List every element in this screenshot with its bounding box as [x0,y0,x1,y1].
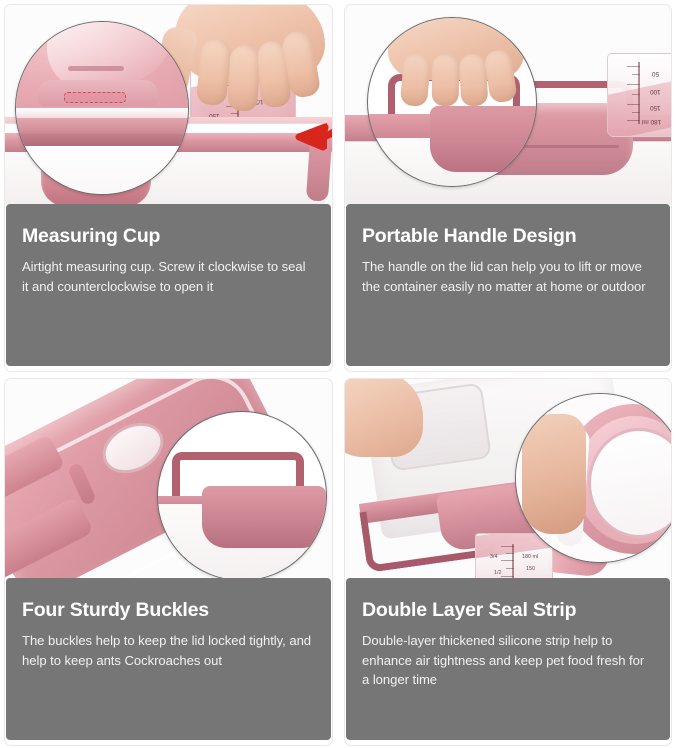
finger [196,38,233,107]
photo-measuring-cup: 50 100 150 180 ml 1/4 1/2 3/4 cup [5,5,332,204]
caption-body: Double-layer thickened silicone strip he… [362,631,654,689]
caption-four-sturdy-buckles: Four Sturdy Buckles The buckles help to … [6,578,331,740]
caption-title: Portable Handle Design [362,226,654,246]
feature-grid: 50 100 150 180 ml 1/4 1/2 3/4 cup [0,0,679,748]
hand [384,17,524,116]
feature-card-measuring-cup: 50 100 150 180 ml 1/4 1/2 3/4 cup [0,0,340,374]
caption-body: Airtight measuring cup. Screw it clockwi… [22,257,315,295]
caption-title: Double Layer Seal Strip [362,600,654,620]
seal-rib-white [15,108,189,118]
seal-rib-dark [15,134,189,146]
magnifier-inset-seal-ring [515,393,671,563]
feature-card-portable-handle-design: 50 100 150 180 ml [340,0,679,374]
finger [400,53,431,107]
scene [5,379,332,578]
caption-portable-handle-design: Portable Handle Design The handle on the… [346,204,670,366]
card-inner: 180 ml 150 100 50 3/4 1/2 1/4 [344,378,672,746]
cup-label-ml-150: 150 [650,104,661,111]
magnifier-inset-seal [15,21,189,195]
caption-measuring-cup: Measuring Cup Airtight measuring cup. Sc… [6,204,331,366]
photo-portable-handle: 50 100 150 180 ml [345,5,671,204]
cup-tick-scale [638,62,640,124]
measuring-cup: 50 100 150 180 ml [607,53,671,137]
caption-double-layer-seal-strip: Double Layer Seal Strip Double-layer thi… [346,578,670,740]
rotation-arrow-icon [291,93,332,151]
card-inner: 50 100 150 180 ml [344,4,672,372]
cup-label-cup-half: 1/2 [494,570,502,576]
hand [345,379,433,481]
cup-label-cup-three-quarter: 3/4 [490,554,498,560]
feature-card-four-sturdy-buckles: Four Sturdy Buckles The buckles help to … [0,374,340,748]
thumb [522,414,586,534]
cup-label-ml-180: 180 ml [642,118,661,125]
caption-title: Measuring Cup [22,226,315,246]
scene: 50 100 150 180 ml 1/4 1/2 3/4 cup [5,5,332,204]
magnifier-inset-buckle [157,411,327,578]
lid-slot [68,66,124,71]
finger [432,54,460,106]
magnifier-inset-handle [367,17,537,187]
scene: 50 100 150 180 ml [345,5,671,204]
product-feature-grid-image: 50 100 150 180 ml 1/4 1/2 3/4 cup [0,0,679,748]
cup-label-ml-50: 50 [652,70,659,77]
seal-highlight-dashed [64,92,126,103]
buckle-grip [202,486,326,548]
caption-title: Four Sturdy Buckles [22,600,315,620]
seal-rib-pink [15,118,189,134]
feature-card-double-layer-seal-strip: 180 ml 150 100 50 3/4 1/2 1/4 [340,374,679,748]
cup-label-ml-150: 150 [526,566,535,572]
cup-label-ml-100: 100 [650,88,661,95]
photo-double-layer-seal-strip: 180 ml 150 100 50 3/4 1/2 1/4 [345,379,671,578]
cup-tick-scale [512,544,514,578]
finger [227,44,260,111]
card-inner: 50 100 150 180 ml 1/4 1/2 3/4 cup [4,4,333,372]
scene: 180 ml 150 100 50 3/4 1/2 1/4 [345,379,671,578]
photo-four-sturdy-buckles [5,379,332,578]
container-bowl [15,146,189,195]
card-inner: Four Sturdy Buckles The buckles help to … [4,378,333,746]
caption-body: The buckles help to keep the lid locked … [22,631,315,669]
palm [345,379,423,457]
caption-body: The handle on the lid can help you to li… [362,257,654,295]
